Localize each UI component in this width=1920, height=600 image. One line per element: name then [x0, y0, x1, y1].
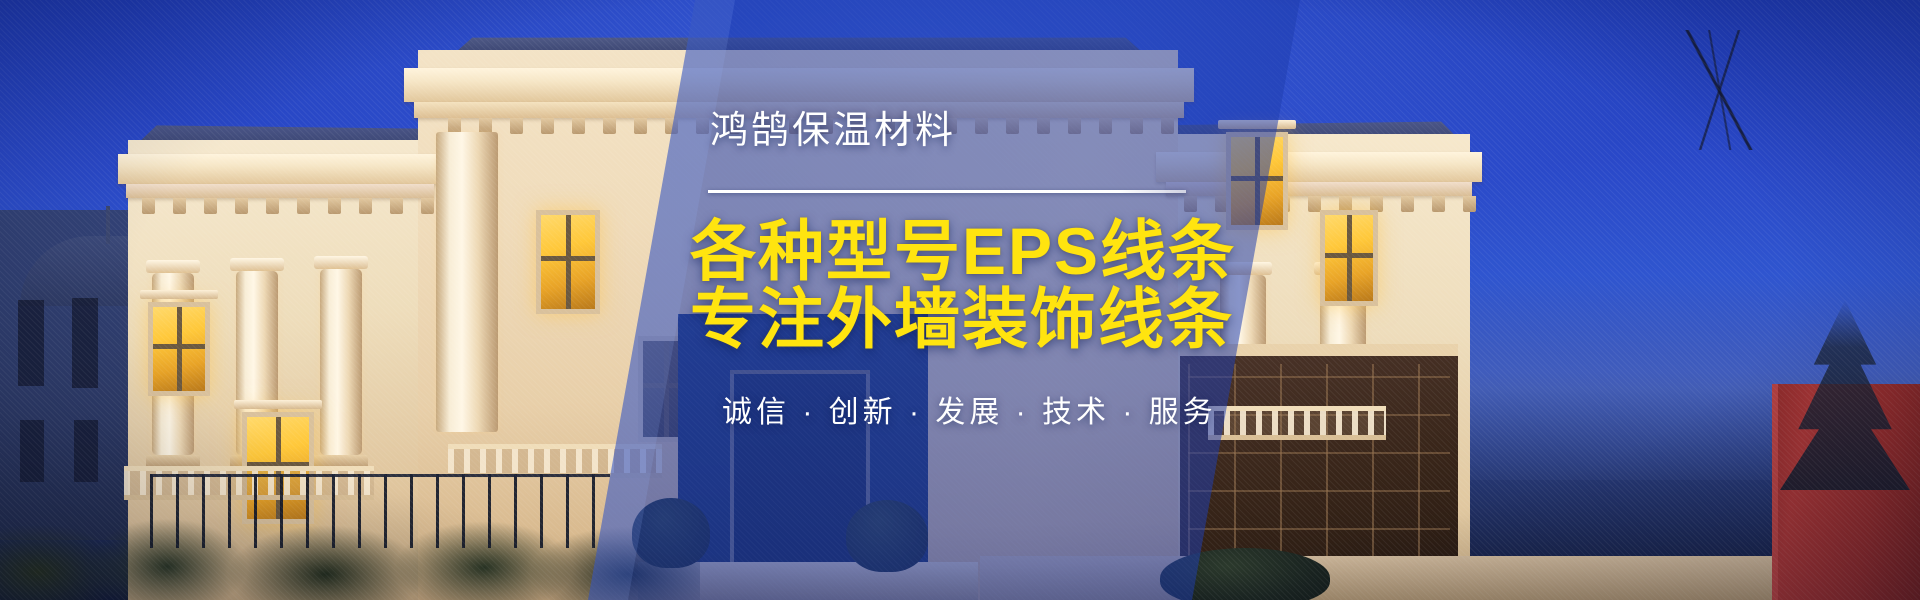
tagline: 诚信 · 创新 · 发展 · 技术 · 服务	[722, 398, 1217, 428]
headline-line-1: 各种型号EPS线条	[690, 214, 1236, 288]
brand-name: 鸿鹄保温材料	[710, 112, 956, 150]
title-divider	[708, 190, 1186, 193]
headline: 各种型号EPS线条 专注外墙装饰线条	[690, 218, 1236, 354]
banner-content: 鸿鹄保温材料 各种型号EPS线条 专注外墙装饰线条 诚信 · 创新 · 发展 ·…	[0, 0, 1920, 600]
headline-line-2: 专注外墙装饰线条	[690, 286, 1236, 354]
hero-banner: 鸿鹄保温材料 各种型号EPS线条 专注外墙装饰线条 诚信 · 创新 · 发展 ·…	[0, 0, 1920, 600]
